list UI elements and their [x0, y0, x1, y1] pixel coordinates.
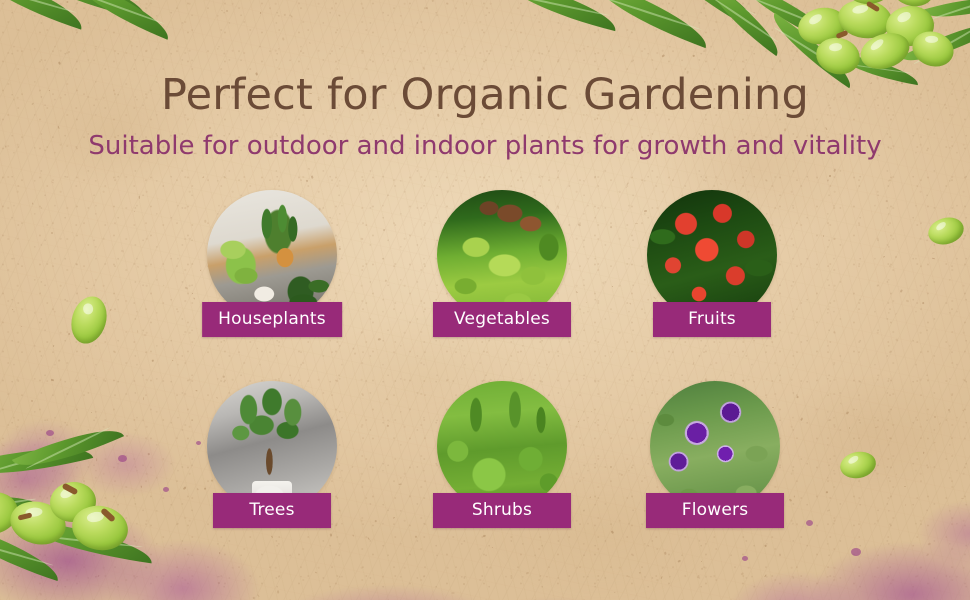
shrubs-photo [437, 381, 567, 511]
vegetables-image-art [437, 190, 567, 320]
houseplants-photo [207, 190, 337, 320]
vegetables-photo [437, 190, 567, 320]
organic-gardening-banner: Perfect for Organic Gardening Suitable f… [0, 0, 970, 600]
category-label-fruits: Fruits [653, 302, 771, 337]
category-label-shrubs: Shrubs [433, 493, 571, 528]
flowers-image-art [650, 381, 780, 511]
trees-photo [207, 381, 337, 511]
flowers-photo [650, 381, 780, 511]
shrubs-image-art [437, 381, 567, 511]
category-label-vegetables: Vegetables [433, 302, 571, 337]
category-label-houseplants: Houseplants [202, 302, 342, 337]
fruits-image-art [647, 190, 777, 320]
houseplants-image-art [207, 190, 337, 320]
fruits-photo [647, 190, 777, 320]
category-label-trees: Trees [213, 493, 331, 528]
category-label-flowers: Flowers [646, 493, 784, 528]
trees-image-art [207, 381, 337, 511]
category-grid: Houseplants Vegetables Fruits Trees [0, 0, 970, 600]
